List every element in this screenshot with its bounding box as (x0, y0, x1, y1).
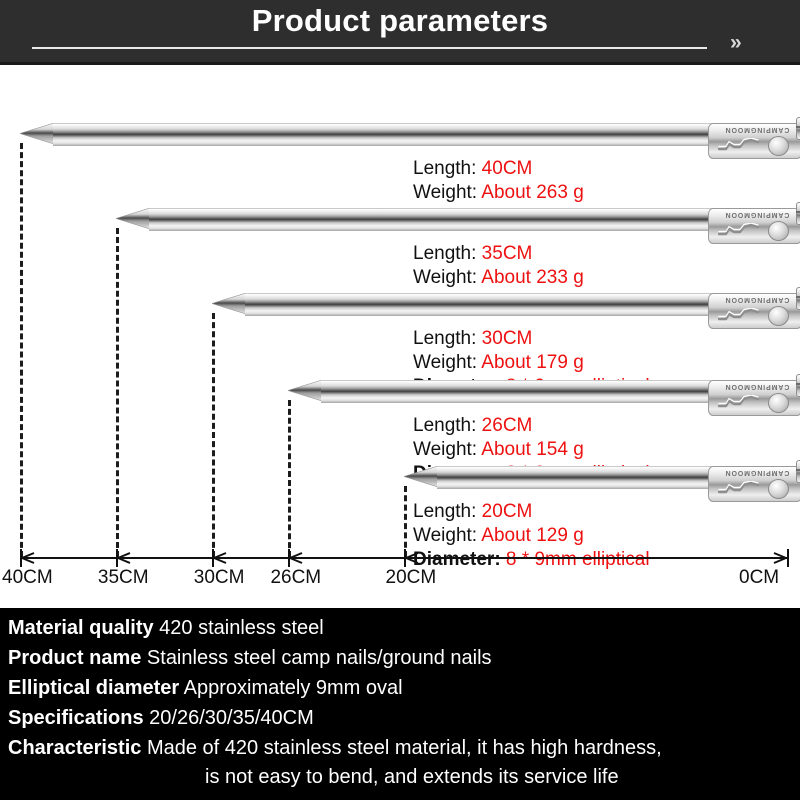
nail-head: CAMPINGMOON (708, 454, 800, 500)
nail-head-hook-notch-icon (718, 138, 760, 152)
length-label: Length: (413, 415, 476, 436)
nail-head: CAMPINGMOON (708, 196, 800, 242)
nail-head-cap-groove (796, 296, 800, 298)
nail-shaft (53, 123, 716, 146)
ruler-tick-label: 20CM (386, 567, 437, 589)
nail-20CM: CAMPINGMOON (404, 448, 788, 506)
nail-head-cap-groove (796, 126, 800, 128)
spec-table-key: Specifications (8, 707, 144, 729)
spec-table-key: Product name (8, 647, 141, 669)
spec-table-row: Specifications 20/26/30/35/40CM (0, 703, 800, 733)
spec-table-value-continued: is not easy to bend, and extends its ser… (0, 763, 800, 791)
spec-row: Length: 35CM (413, 242, 660, 266)
ruler-axis: 40CM35CM30CM26CM20CM0CM (0, 545, 800, 600)
nail-40CM: CAMPINGMOON (20, 105, 787, 163)
length-label: Length: (413, 328, 476, 349)
guide-line-40CM (20, 143, 23, 557)
spec-table-key: Material quality (8, 617, 154, 639)
nail-head-hole (768, 306, 789, 326)
spec-table-row: Product name Stainless steel camp nails/… (0, 643, 800, 673)
spec-table-key: Characteristic (8, 737, 141, 759)
weight-label: Weight: (413, 525, 477, 546)
nail-head: CAMPINGMOON (708, 281, 800, 327)
ruler-arrow-icon (773, 551, 787, 565)
ruler-arrow-icon (289, 551, 303, 565)
product-parameters-infographic: Product parameters » CAMPINGMOONLength: … (0, 0, 800, 800)
nail-head-hole (768, 221, 789, 241)
spec-table-value: 420 stainless steel (154, 617, 324, 639)
length-value: 20CM (476, 501, 532, 522)
spec-row: Length: 30CM (413, 327, 650, 351)
nail-head-cap (796, 117, 800, 140)
nail-26CM: CAMPINGMOON (288, 362, 787, 420)
spec-table-value: Stainless steel camp nails/ground nails (141, 647, 491, 669)
double-chevron-right-icon[interactable]: » (730, 31, 764, 55)
ruler-tick-label: 40CM (2, 567, 53, 589)
spec-table-value: Approximately 9mm oval (179, 677, 402, 699)
nail-head-cap-groove (796, 211, 800, 213)
length-label: Length: (413, 243, 476, 264)
spec-row: Length: 40CM (413, 157, 660, 181)
nail-shaft (149, 208, 716, 231)
spec-table-value: Made of 420 stainless steel material, it… (141, 737, 661, 759)
nail-30CM: CAMPINGMOON (212, 275, 787, 333)
nail-head-cap (796, 202, 800, 225)
length-label: Length: (413, 501, 476, 522)
nail-head-cap (796, 374, 800, 397)
ruler-arrow-icon (21, 551, 35, 565)
spec-table-row: Material quality 420 stainless steel (0, 613, 800, 643)
nail-head-cap-groove (796, 383, 800, 385)
ruler-tick-label: 35CM (98, 567, 149, 589)
nail-head-cap-groove (796, 469, 800, 471)
nail-size-diagram: CAMPINGMOONLength: 40CMWeight: About 263… (0, 65, 800, 605)
spec-row: Length: 26CM (413, 414, 650, 438)
ruler-arrow-icon (117, 551, 131, 565)
weight-value: About 129 g (477, 525, 584, 546)
brand-stamp: CAMPINGMOON (720, 381, 794, 392)
ruler-tick (787, 549, 789, 567)
guide-line-35CM (116, 228, 119, 557)
nail-tip-icon (212, 293, 246, 314)
nail-head-hook-notch-icon (718, 308, 760, 322)
length-value: 35CM (476, 243, 532, 264)
brand-stamp: CAMPINGMOON (720, 124, 794, 135)
ruler-tick-label: 26CM (270, 567, 321, 589)
ruler-arrow-icon (213, 551, 227, 565)
spec-table-row: Characteristic Made of 420 stainless ste… (0, 733, 800, 763)
nail-head: CAMPINGMOON (708, 111, 800, 157)
length-label: Length: (413, 158, 476, 179)
specifications-table: Material quality 420 stainless steelProd… (0, 608, 800, 800)
spec-row: Length: 20CM (413, 500, 650, 524)
nail-tip-icon (116, 208, 150, 229)
ruler-arrow-icon (405, 551, 419, 565)
guide-line-26CM (288, 400, 291, 557)
page-title: Product parameters (0, 2, 800, 40)
header-divider (32, 47, 707, 49)
nail-head-hole (768, 393, 789, 413)
nail-shaft (437, 466, 717, 489)
ruler-tick-label: 0CM (739, 567, 779, 589)
nail-head-hook-notch-icon (718, 223, 760, 237)
length-value: 26CM (476, 415, 532, 436)
nail-tip-icon (404, 466, 438, 487)
ruler-tick-label: 30CM (194, 567, 245, 589)
nail-shaft (245, 293, 716, 316)
nail-head-hole (768, 479, 789, 499)
nail-tip-icon (20, 123, 54, 144)
nail-head-cap (796, 287, 800, 310)
nail-head-hole (768, 136, 789, 156)
nail-head-cap (796, 460, 800, 483)
nail-shaft (321, 380, 716, 403)
nail-head: CAMPINGMOON (708, 368, 800, 414)
spec-table-key: Elliptical diameter (8, 677, 179, 699)
nail-tip-icon (288, 380, 322, 401)
spec-table-value: 20/26/30/35/40CM (144, 707, 314, 729)
guide-line-30CM (212, 313, 215, 557)
header-bar: Product parameters » (0, 0, 800, 62)
nail-head-hook-notch-icon (718, 395, 760, 409)
nail-35CM: CAMPINGMOON (116, 190, 787, 248)
nail-head-hook-notch-icon (718, 481, 760, 495)
spec-table-row: Elliptical diameter Approximately 9mm ov… (0, 673, 800, 703)
length-value: 30CM (476, 328, 532, 349)
brand-stamp: CAMPINGMOON (720, 294, 794, 305)
length-value: 40CM (476, 158, 532, 179)
brand-stamp: CAMPINGMOON (720, 467, 794, 478)
brand-stamp: CAMPINGMOON (720, 209, 794, 220)
